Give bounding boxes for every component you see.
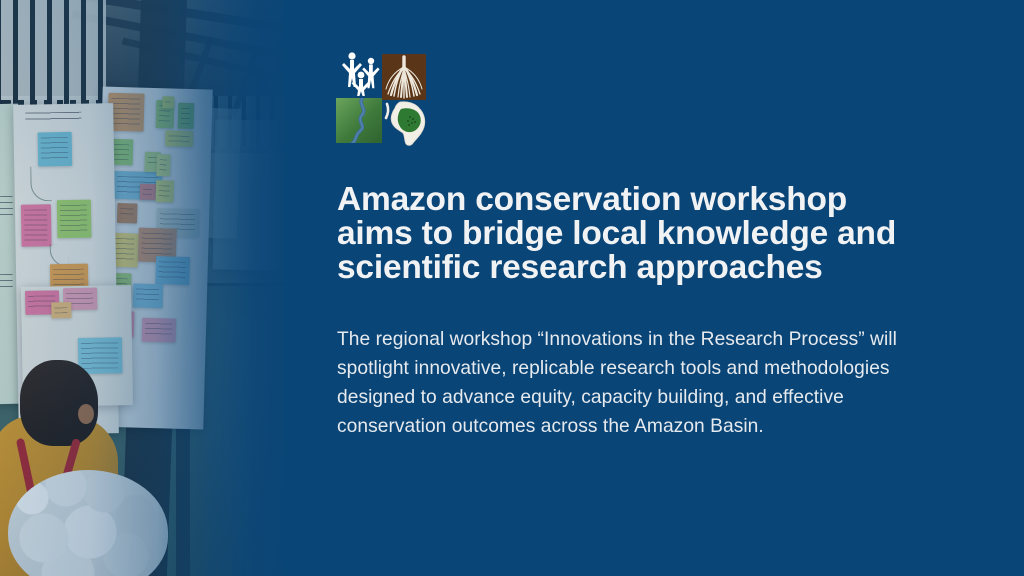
photo-vignette-overlay [0,0,300,576]
content-column: Amazon conservation workshop aims to bri… [336,0,936,576]
winding-river-icon [336,98,382,143]
dancing-people-icon [339,50,382,96]
tree-roots-icon [382,54,426,100]
photo-content [0,0,300,576]
page-title: Amazon conservation workshop aims to bri… [337,183,897,285]
south-america-map-icon [384,100,428,146]
page-description: The regional workshop “Innovations in th… [337,325,899,441]
banner: Amazon conservation workshop aims to bri… [0,0,1024,576]
workshop-photo [0,0,300,576]
amazon-conservation-logo [336,50,426,146]
